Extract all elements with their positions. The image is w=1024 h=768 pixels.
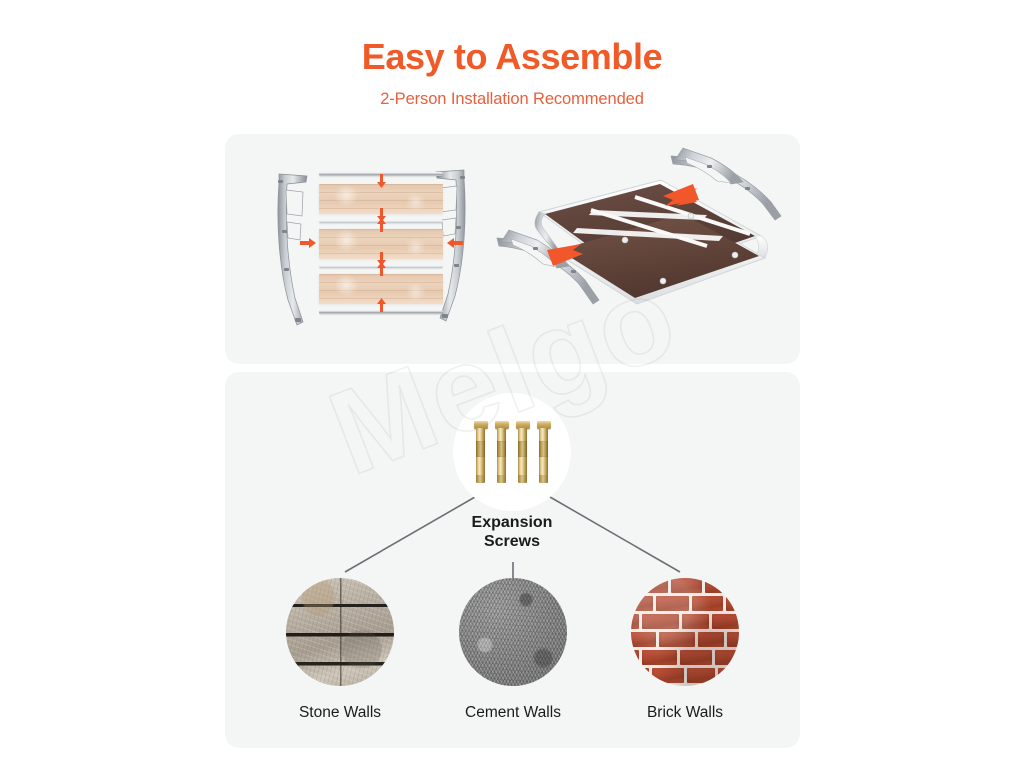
wall-label-stone: Stone Walls — [260, 704, 420, 722]
wall-swatch-cement — [459, 578, 567, 686]
brick-shading — [631, 578, 739, 686]
assembly-arrow-up-2 — [376, 262, 387, 276]
cement-texture — [459, 578, 567, 686]
expansion-screws-label-line2: Screws — [416, 533, 608, 552]
assembly-arrow-up-1 — [376, 218, 387, 232]
page-title: Easy to Assemble — [362, 38, 662, 76]
expansion-screws-label: Expansion Screws — [416, 514, 608, 552]
assembly-arrow-right — [300, 237, 316, 249]
screw-band — [476, 441, 485, 457]
assembly-panel — [225, 134, 800, 364]
screw-tip — [518, 475, 527, 483]
header: Easy to Assemble 2-Person Installation R… — [0, 0, 1024, 130]
screw-band — [518, 441, 527, 457]
wall-label-cement: Cement Walls — [433, 704, 593, 722]
brick-texture — [631, 578, 739, 686]
assembly-arrow-left — [447, 237, 463, 249]
assembly-arrow-down-1 — [376, 174, 387, 188]
screw-tip — [497, 475, 506, 483]
expansion-screws-circle — [453, 393, 571, 511]
screw-tip — [476, 475, 485, 483]
screw-tip — [539, 475, 548, 483]
expansion-screw-3 — [518, 421, 527, 483]
expansion-screw-2 — [497, 421, 506, 483]
stone-texture — [286, 578, 394, 686]
expansion-screw-1 — [476, 421, 485, 483]
expansion-screws-label-line1: Expansion — [416, 514, 608, 533]
screw-row — [476, 421, 548, 483]
assembled-canopy-illustration — [495, 140, 795, 355]
expansion-screw-4 — [539, 421, 548, 483]
assembly-arrow-up-3 — [376, 298, 387, 312]
screw-band — [539, 441, 548, 457]
wall-swatch-stone — [286, 578, 394, 686]
screw-band — [497, 441, 506, 457]
wall-label-brick: Brick Walls — [605, 704, 765, 722]
bracket-arm-left — [273, 170, 313, 330]
wall-swatch-brick — [631, 578, 739, 686]
page-subtitle: 2-Person Installation Recommended — [380, 90, 644, 109]
exploded-assembly-illustration — [245, 144, 500, 354]
